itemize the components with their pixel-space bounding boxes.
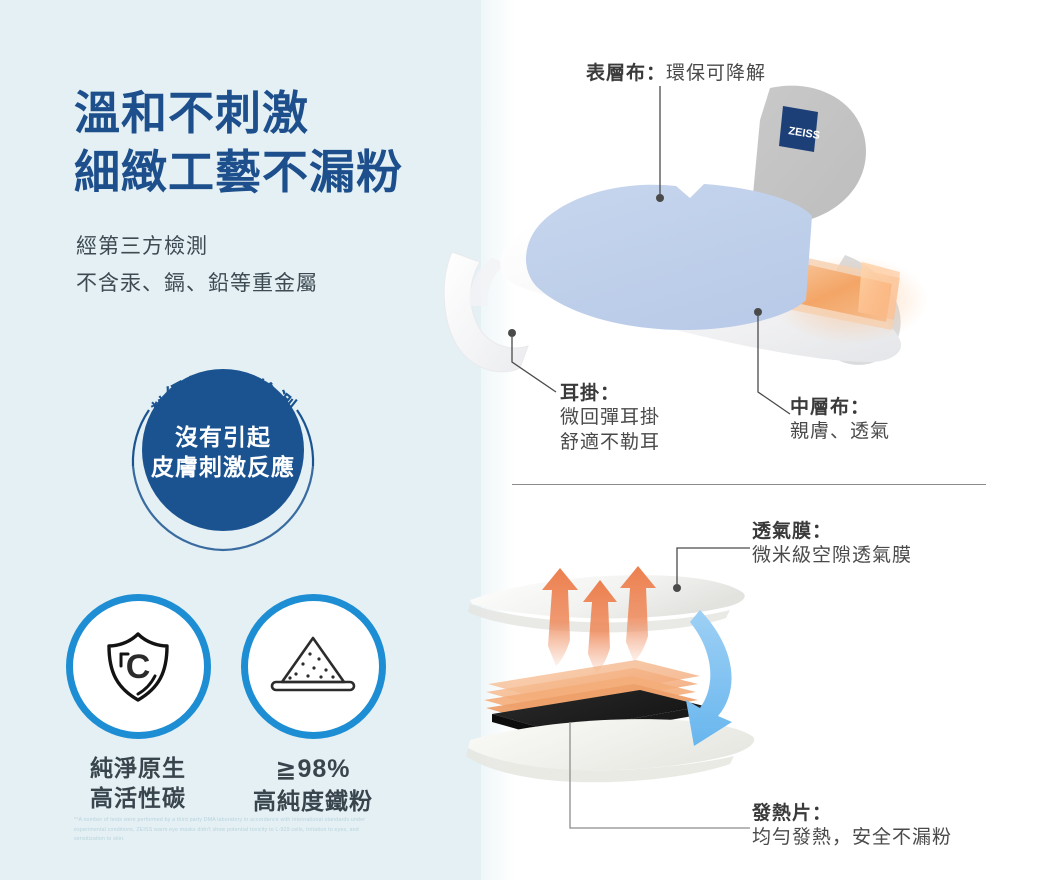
callout-body: 微米級空隙透氣膜 (752, 543, 912, 568)
callout-title: 表層布： (586, 63, 666, 84)
page-headline: 溫和不刺激 細緻工藝不漏粉 (74, 84, 403, 202)
subcopy-line-2: 不含汞、鎘、鉛等重金屬 (76, 265, 318, 302)
legal-footnote: **A number of tests were performed by a … (74, 816, 370, 845)
page-subcopy: 經第三方檢測 不含汞、鎘、鉛等重金屬 (76, 228, 318, 303)
callout-title: 耳掛： (560, 378, 660, 405)
callout-breathable-film: 透氣膜： 微米級空隙透氣膜 (752, 516, 912, 568)
callout-body: 環保可降解 (666, 63, 766, 84)
feature-label-line-2: 高純度鐵粉 (238, 786, 388, 816)
shield-carbon-icon: C (95, 624, 181, 710)
callout-surface-fabric: 表層布：環保可降解 (586, 58, 766, 86)
callout-title: 中層布： (790, 392, 890, 419)
feature-label-line-1: 純淨原生 (63, 753, 213, 783)
subcopy-line-1: 經第三方檢測 (76, 228, 318, 265)
feature-label-line-1: ≧98% (238, 753, 388, 786)
callout-body: 均勻發熱，安全不漏粉 (752, 825, 952, 850)
badge-core-line-2: 皮膚刺激反應 (113, 452, 333, 482)
feature-label-line-2: 高活性碳 (63, 783, 213, 813)
callout-title: 透氣膜： (752, 516, 912, 543)
callout-ear-loop: 耳掛： 微回彈耳掛 舒適不勒耳 (560, 378, 660, 456)
callout-body: 親膚、透氣 (790, 419, 890, 444)
callout-middle-fabric: 中層布： 親膚、透氣 (790, 392, 890, 444)
svg-text:C: C (126, 648, 151, 686)
callout-title: 發熱片： (752, 798, 952, 825)
headline-line-1: 溫和不刺激 (74, 84, 403, 143)
section-divider (512, 484, 986, 485)
third-party-test-badge: **經第三方檢測 沒有引起 皮膚刺激反應 (113, 338, 333, 558)
infographic-root: ZEISS (0, 0, 1040, 880)
feature-label: 純淨原生 高活性碳 (63, 753, 213, 814)
badge-core-line-1: 沒有引起 (113, 422, 333, 452)
feature-icon-circle: C (66, 594, 211, 739)
badge-core-label: 沒有引起 皮膚刺激反應 (113, 422, 333, 483)
callout-heating-sheet: 發熱片： 均勻發熱，安全不漏粉 (752, 798, 952, 850)
feature-iron-powder: ≧98% 高純度鐵粉 (238, 594, 388, 816)
callout-body-line1: 微回彈耳掛 (560, 405, 660, 430)
headline-line-2: 細緻工藝不漏粉 (74, 143, 403, 202)
feature-icon-circle (241, 594, 386, 739)
feature-label: ≧98% 高純度鐵粉 (238, 753, 388, 816)
powder-pile-icon (266, 628, 360, 706)
callout-body-line2: 舒適不勒耳 (560, 430, 660, 455)
feature-activated-carbon: C 純淨原生 高活性碳 (63, 594, 213, 814)
